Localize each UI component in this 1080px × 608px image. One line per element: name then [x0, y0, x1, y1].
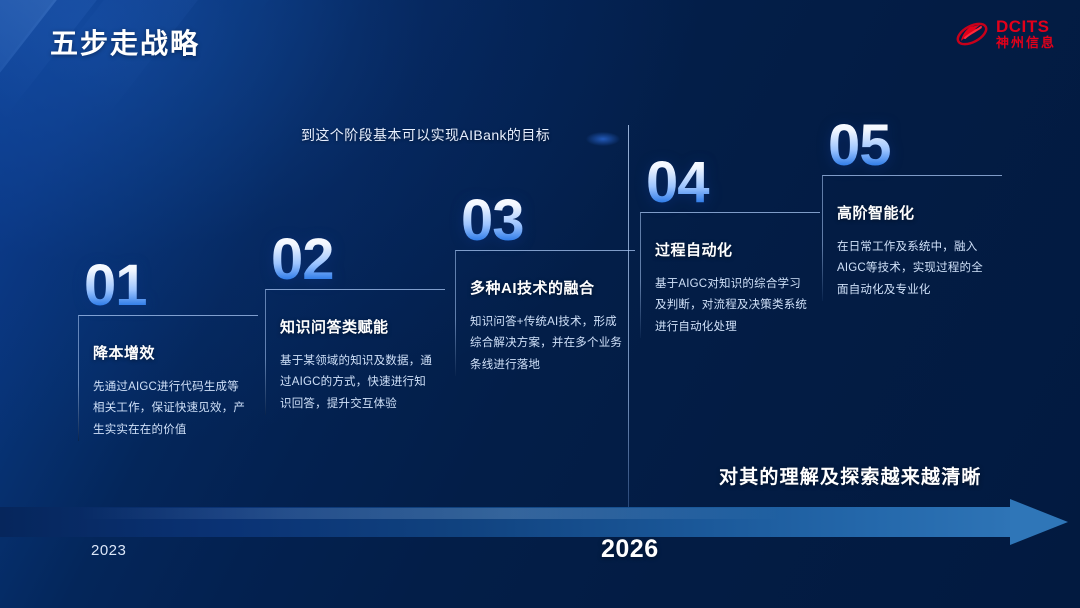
year-label-end: 2026	[601, 535, 659, 564]
stage-annotation: 到这个阶段基本可以实现AIBank的目标	[301, 125, 550, 145]
step-number: 05	[828, 118, 1002, 173]
logo-text-en: DCITS	[996, 18, 1056, 36]
step-description: 基于某领域的知识及数据，通过AIGC的方式，快速进行知识回答，提升交互体验	[280, 351, 437, 415]
step-title: 过程自动化	[655, 239, 812, 260]
step-card-05: 05 高阶智能化 在日常工作及系统中，融入AIGC等技术，实现过程的全面自动化及…	[822, 118, 1002, 301]
step-title: 高阶智能化	[837, 202, 994, 223]
step-frame: 知识问答类赋能 基于某领域的知识及数据，通过AIGC的方式，快速进行知识回答，提…	[265, 289, 445, 415]
step-title: 多种AI技术的融合	[470, 277, 627, 298]
step-frame: 过程自动化 基于AIGC对知识的综合学习及判断，对流程及决策类系统进行自动化处理	[640, 212, 820, 338]
step-description: 知识问答+传统AI技术，形成综合解决方案，并在多个业务条线进行落地	[470, 312, 627, 376]
year-label-start: 2023	[91, 542, 126, 559]
arrow-highlight	[80, 508, 780, 519]
logo-text-cn: 神州信息	[996, 36, 1056, 50]
step-number: 04	[646, 155, 820, 210]
step-frame: 高阶智能化 在日常工作及系统中，融入AIGC等技术，实现过程的全面自动化及专业化	[822, 175, 1002, 301]
logo-text-block: DCITS 神州信息	[996, 18, 1056, 49]
step-card-01: 01 降本增效 先通过AIGC进行代码生成等相关工作，保证快速见效，产生实实在在…	[78, 258, 258, 441]
slide-root: 五步走战略 DCITS 神州信息 到这个阶段基本可以实现AIBank的目标 01…	[0, 0, 1080, 608]
arrow-head-icon	[1010, 499, 1068, 545]
step-card-02: 02 知识问答类赋能 基于某领域的知识及数据，通过AIGC的方式，快速进行知识回…	[265, 232, 445, 415]
step-number: 01	[84, 258, 258, 313]
step-number: 02	[271, 232, 445, 287]
timeline-tagline: 对其的理解及探索越来越清晰	[719, 462, 982, 489]
streak-1	[0, 0, 1, 290]
page-title: 五步走战略	[50, 22, 200, 62]
step-description: 在日常工作及系统中，融入AIGC等技术，实现过程的全面自动化及专业化	[837, 237, 994, 301]
step-description: 先通过AIGC进行代码生成等相关工作，保证快速见效，产生实实在在的价值	[93, 377, 250, 441]
step-title: 降本增效	[93, 342, 250, 363]
annotation-glow	[586, 132, 620, 146]
timeline-arrow	[0, 499, 1080, 545]
step-description: 基于AIGC对知识的综合学习及判断，对流程及决策类系统进行自动化处理	[655, 274, 812, 338]
step-number: 03	[461, 193, 635, 248]
streak-5	[195, 0, 430, 55]
company-logo: DCITS 神州信息	[955, 18, 1056, 49]
dcits-swirl-logo-icon	[955, 19, 989, 49]
step-title: 知识问答类赋能	[280, 316, 437, 337]
step-frame: 多种AI技术的融合 知识问答+传统AI技术，形成综合解决方案，并在多个业务条线进…	[455, 250, 635, 376]
step-card-04: 04 过程自动化 基于AIGC对知识的综合学习及判断，对流程及决策类系统进行自动…	[640, 155, 820, 338]
step-frame: 降本增效 先通过AIGC进行代码生成等相关工作，保证快速见效，产生实实在在的价值	[78, 315, 258, 441]
step-card-03: 03 多种AI技术的融合 知识问答+传统AI技术，形成综合解决方案，并在多个业务…	[455, 193, 635, 376]
